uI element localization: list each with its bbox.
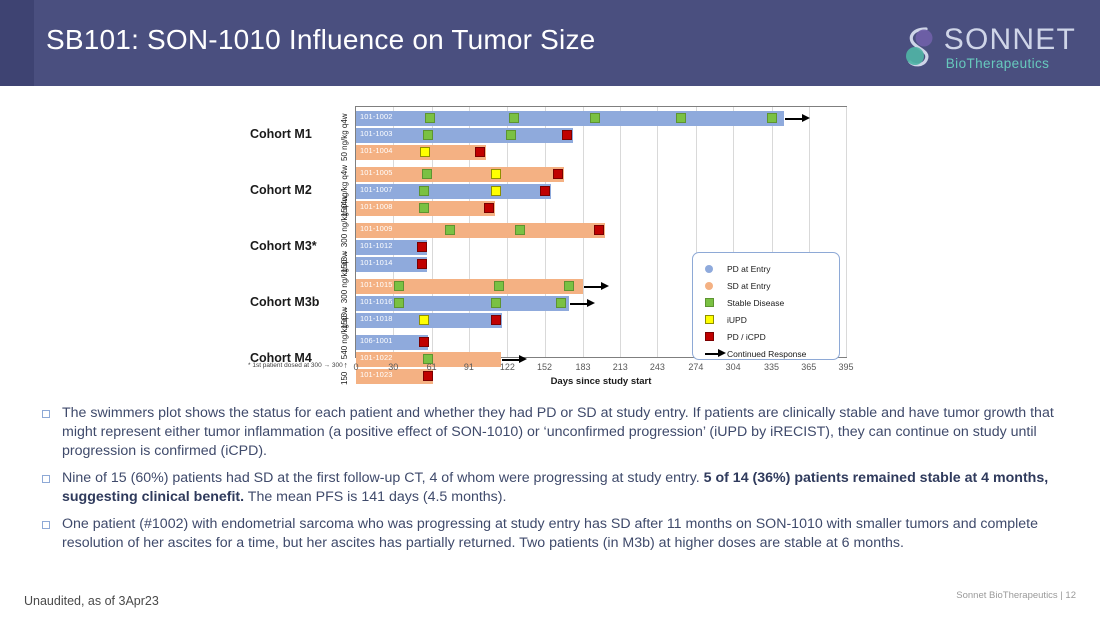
- legend-label: iUPD: [727, 315, 747, 325]
- cohort-label-cohortm3b: Cohort M3b: [250, 295, 319, 309]
- cohort-label-cohortm2: Cohort M2: [250, 183, 312, 197]
- marker-yellow: [491, 169, 501, 179]
- x-axis-tick: 335: [764, 362, 779, 372]
- bullet-text: The swimmers plot shows the status for e…: [62, 404, 1062, 461]
- swimmer-bar-row[interactable]: 101-1009: [356, 223, 846, 238]
- legend-label: Continued Response: [727, 349, 806, 359]
- continued-response-arrow: [584, 282, 610, 291]
- sonnet-logo: SONNET BioTherapeutics: [900, 25, 1076, 71]
- legend-symbol: [705, 315, 727, 324]
- x-axis-title: Days since study start: [355, 376, 847, 387]
- legend-symbol: [705, 349, 727, 358]
- marker-red: [419, 337, 429, 347]
- swimmer-bar-row[interactable]: 101-1007: [356, 184, 846, 199]
- bullet-marker-icon: [42, 521, 50, 529]
- footer-attribution: Sonnet BioTherapeutics | 12: [956, 590, 1076, 601]
- x-axis-tick: 61: [427, 362, 437, 372]
- legend-arrow-icon: [705, 349, 727, 358]
- page-title: SB101: SON-1010 Influence on Tumor Size: [46, 24, 595, 56]
- patient-id-label: 101-1016: [360, 297, 393, 306]
- legend-symbol: [705, 298, 727, 307]
- legend-item: SD at Entry: [705, 277, 839, 294]
- gridline: [846, 107, 847, 357]
- continued-response-arrow: [785, 114, 811, 123]
- bullet-item: The swimmers plot shows the status for e…: [42, 404, 1062, 461]
- marker-green: [491, 298, 501, 308]
- x-axis-tick: 243: [650, 362, 665, 372]
- marker-green: [419, 186, 429, 196]
- legend-item: Stable Disease: [705, 294, 839, 311]
- patient-id-label: 101-1007: [360, 185, 393, 194]
- marker-green: [423, 130, 433, 140]
- marker-green: [676, 113, 686, 123]
- slide-header: SB101: SON-1010 Influence on Tumor Size …: [0, 0, 1100, 86]
- marker-green: [767, 113, 777, 123]
- marker-green: [422, 169, 432, 179]
- legend-symbol: [705, 332, 727, 341]
- patient-id-label: 101-1004: [360, 146, 393, 155]
- bullet-list: The swimmers plot shows the status for e…: [42, 404, 1062, 561]
- marker-red: [540, 186, 550, 196]
- marker-green: [506, 130, 516, 140]
- marker-green: [419, 203, 429, 213]
- patient-id-label: 106-1001: [360, 336, 393, 345]
- marker-red: [484, 203, 494, 213]
- marker-green: [556, 298, 566, 308]
- cohort-label-cohortm1: Cohort M1: [250, 127, 312, 141]
- logo-brand-sub: BioTherapeutics: [946, 57, 1076, 71]
- legend-symbol: [705, 265, 727, 273]
- marker-green: [425, 113, 435, 123]
- swimmer-bar-row[interactable]: 101-1003: [356, 128, 846, 143]
- swimmer-bar-row[interactable]: 101-1002: [356, 111, 846, 126]
- marker-green: [590, 113, 600, 123]
- cohort-label-cohortm3: Cohort M3*: [250, 239, 317, 253]
- header-accent-bar: [0, 0, 34, 86]
- marker-red: [491, 315, 501, 325]
- marker-red: [553, 169, 563, 179]
- swimmer-plot: Cohort M1Cohort M2Cohort M3*Cohort M3bCo…: [0, 92, 1100, 392]
- x-axis-tick: 365: [801, 362, 816, 372]
- marker-yellow: [419, 315, 429, 325]
- marker-yellow: [491, 186, 501, 196]
- x-axis-tick: 0: [353, 362, 358, 372]
- bullet-text: Nine of 15 (60%) patients had SD at the …: [62, 469, 1062, 507]
- legend-item: PD / iCPD: [705, 328, 839, 345]
- continued-response-arrow: [570, 299, 596, 308]
- footer-note: Unaudited, as of 3Apr23: [24, 594, 159, 608]
- chart-footnote: * 1st patient dosed at 300 → 300: [248, 362, 343, 369]
- marker-green: [509, 113, 519, 123]
- swimmer-bar: [356, 223, 605, 238]
- marker-green: [515, 225, 525, 235]
- legend-label: SD at Entry: [727, 281, 770, 291]
- patient-id-label: 101-1008: [360, 202, 393, 211]
- bullet-marker-icon: [42, 475, 50, 483]
- marker-yellow: [420, 147, 430, 157]
- marker-green: [394, 281, 404, 291]
- patient-id-label: 101-1015: [360, 280, 393, 289]
- legend-item: Continued Response: [705, 345, 839, 362]
- swimmer-bar-row[interactable]: 101-1005: [356, 167, 846, 182]
- marker-red: [417, 259, 427, 269]
- marker-green: [445, 225, 455, 235]
- x-axis-tick: 213: [613, 362, 628, 372]
- legend-square-icon: [705, 315, 714, 324]
- bullet-item: One patient (#1002) with endometrial sar…: [42, 515, 1062, 553]
- marker-red: [594, 225, 604, 235]
- marker-green: [564, 281, 574, 291]
- x-axis-tick: 395: [838, 362, 853, 372]
- marker-red: [417, 242, 427, 252]
- legend-dot-icon: [705, 265, 713, 273]
- dose-label: 50 ng/kg q4w: [340, 113, 349, 161]
- marker-red: [475, 147, 485, 157]
- chart-legend: PD at EntrySD at EntryStable DiseaseiUPD…: [692, 252, 840, 360]
- patient-id-label: 101-1012: [360, 241, 393, 250]
- swimmer-bar: [356, 111, 784, 126]
- x-axis-tick: 183: [575, 362, 590, 372]
- legend-item: PD at Entry: [705, 260, 839, 277]
- patient-id-label: 101-1003: [360, 129, 393, 138]
- legend-label: Stable Disease: [727, 298, 784, 308]
- patient-id-label: 101-1022: [360, 353, 393, 362]
- patient-id-label: 101-1002: [360, 112, 393, 121]
- sonnet-logo-mark: [900, 25, 940, 71]
- x-axis-tick: 30: [388, 362, 398, 372]
- x-axis-tick: 304: [726, 362, 741, 372]
- legend-item: iUPD: [705, 311, 839, 328]
- swimmer-bar-row[interactable]: 101-1004: [356, 145, 846, 160]
- x-axis-tick: 152: [537, 362, 552, 372]
- legend-dot-icon: [705, 282, 713, 290]
- x-axis-tick: 91: [464, 362, 474, 372]
- x-axis-tick: 122: [500, 362, 515, 372]
- legend-symbol: [705, 282, 727, 290]
- legend-label: PD at Entry: [727, 264, 770, 274]
- marker-green: [494, 281, 504, 291]
- marker-red: [562, 130, 572, 140]
- bullet-marker-icon: [42, 410, 50, 418]
- patient-id-label: 101-1018: [360, 314, 393, 323]
- legend-square-icon: [705, 298, 714, 307]
- marker-green: [394, 298, 404, 308]
- x-axis-tick: 274: [688, 362, 703, 372]
- logo-brand-name: SONNET: [944, 25, 1076, 55]
- dose-label: 150 → 540 ng/kg q3w: [340, 307, 349, 385]
- legend-square-icon: [705, 332, 714, 341]
- swimmer-bar-row[interactable]: 101-1008: [356, 201, 846, 216]
- patient-id-label: 101-1014: [360, 258, 393, 267]
- patient-id-label: 101-1009: [360, 224, 393, 233]
- patient-id-label: 101-1005: [360, 168, 393, 177]
- bullet-text: One patient (#1002) with endometrial sar…: [62, 515, 1062, 553]
- legend-label: PD / iCPD: [727, 332, 766, 342]
- bullet-item: Nine of 15 (60%) patients had SD at the …: [42, 469, 1062, 507]
